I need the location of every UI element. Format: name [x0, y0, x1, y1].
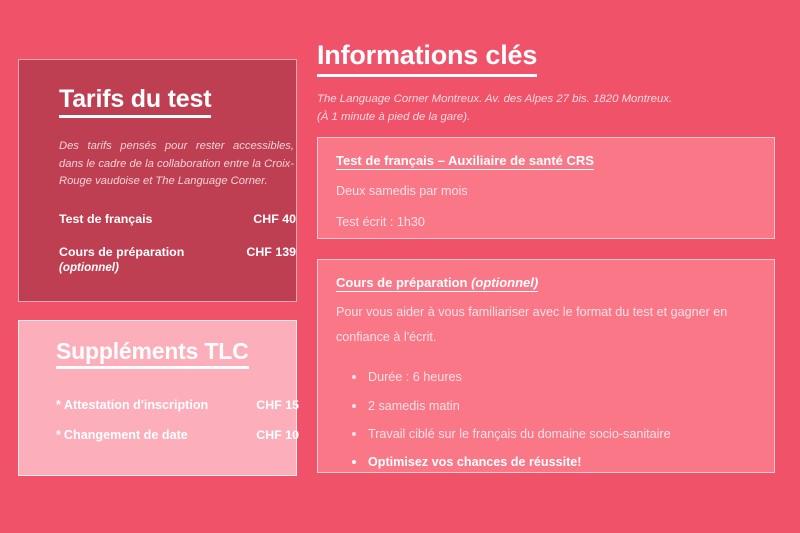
supplement-row: * Changement de date CHF 10: [56, 428, 299, 442]
price-sublabel: (optionnel): [59, 261, 184, 274]
cours-benefits-list: Durée : 6 heures 2 samedis matin Travail…: [336, 368, 756, 471]
price-label: Test de français: [59, 212, 152, 226]
price-row: Test de français CHF 40: [59, 212, 296, 226]
address-line-1: The Language Corner Montreux. Av. des Al…: [317, 91, 765, 109]
supplements-card: Suppléments TLC * Attestation d'inscript…: [18, 320, 297, 476]
supplement-amount: CHF 10: [256, 428, 299, 442]
list-item: Travail ciblé sur le français du domaine…: [352, 425, 756, 443]
poster-canvas: Tarifs du test Des tarifs pensés pour re…: [0, 0, 800, 533]
cours-card-heading: Cours de préparation (optionnel): [336, 275, 538, 292]
address-line-2: (À 1 minute à pied de la gare).: [317, 109, 765, 127]
test-card-heading: Test de français – Auxiliaire de santé C…: [336, 153, 594, 170]
list-item: 2 samedis matin: [352, 397, 756, 415]
test-card-line-1: Deux samedis par mois: [336, 182, 756, 201]
tarifs-card-title: Tarifs du test: [59, 86, 211, 118]
cours-info-card: Cours de préparation (optionnel) Pour vo…: [317, 259, 775, 473]
price-amount: CHF 40: [253, 212, 296, 226]
cours-card-heading-optional: (optionnel): [471, 275, 538, 290]
price-amount: CHF 139: [246, 245, 296, 259]
page-title: Informations clés: [317, 41, 537, 77]
price-label-text: Cours de préparation: [59, 245, 184, 259]
tarifs-card-intro: Des tarifs pensés pour rester accessible…: [59, 138, 294, 190]
tarifs-card: Tarifs du test Des tarifs pensés pour re…: [18, 59, 297, 302]
cours-card-paragraph: Pour vous aider à vous familiariser avec…: [336, 300, 756, 350]
supplement-amount: CHF 15: [256, 398, 299, 412]
asterisk-icon: *: [56, 428, 61, 442]
list-item: Durée : 6 heures: [352, 368, 756, 386]
supplement-label: Attestation d'inscription: [64, 398, 208, 412]
supplements-card-title: Suppléments TLC: [56, 339, 249, 369]
test-card-line-2: Test écrit : 1h30: [336, 213, 756, 232]
supplement-label: Changement de date: [64, 428, 188, 442]
price-row: Cours de préparation (optionnel) CHF 139: [59, 245, 296, 274]
price-label-text: Test de français: [59, 212, 152, 226]
cours-card-heading-main: Cours de préparation: [336, 275, 471, 290]
test-info-card: Test de français – Auxiliaire de santé C…: [317, 137, 775, 239]
price-label: Cours de préparation (optionnel): [59, 245, 184, 274]
supplement-label-group: * Attestation d'inscription: [56, 398, 208, 412]
list-item: Optimisez vos chances de réussite!: [352, 453, 756, 471]
supplement-row: * Attestation d'inscription CHF 15: [56, 398, 299, 412]
address-block: The Language Corner Montreux. Av. des Al…: [317, 91, 765, 126]
asterisk-icon: *: [56, 398, 61, 412]
supplement-label-group: * Changement de date: [56, 428, 188, 442]
